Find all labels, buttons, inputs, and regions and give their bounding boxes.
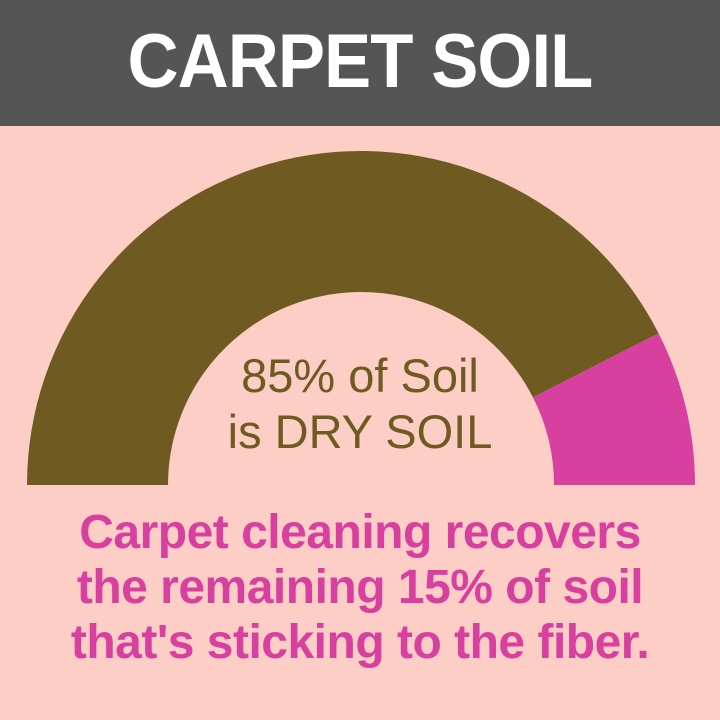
- caption-text: Carpet cleaning recovers the remaining 1…: [0, 505, 720, 670]
- caption-line-3: that's sticking to the fiber.: [0, 615, 720, 670]
- caption-line-1: Carpet cleaning recovers: [0, 505, 720, 560]
- caption-line-2: the remaining 15% of soil: [0, 560, 720, 615]
- gauge-center-label: 85% of Soil is DRY SOIL: [0, 348, 720, 460]
- header-bar: CARPET SOIL: [0, 0, 720, 126]
- page-title: CARPET SOIL: [128, 23, 593, 101]
- center-label-line-2: is DRY SOIL: [0, 404, 720, 460]
- center-label-line-1: 85% of Soil: [0, 348, 720, 404]
- infographic-root: CARPET SOIL 85% of Soil is DRY SOIL Carp…: [0, 0, 720, 720]
